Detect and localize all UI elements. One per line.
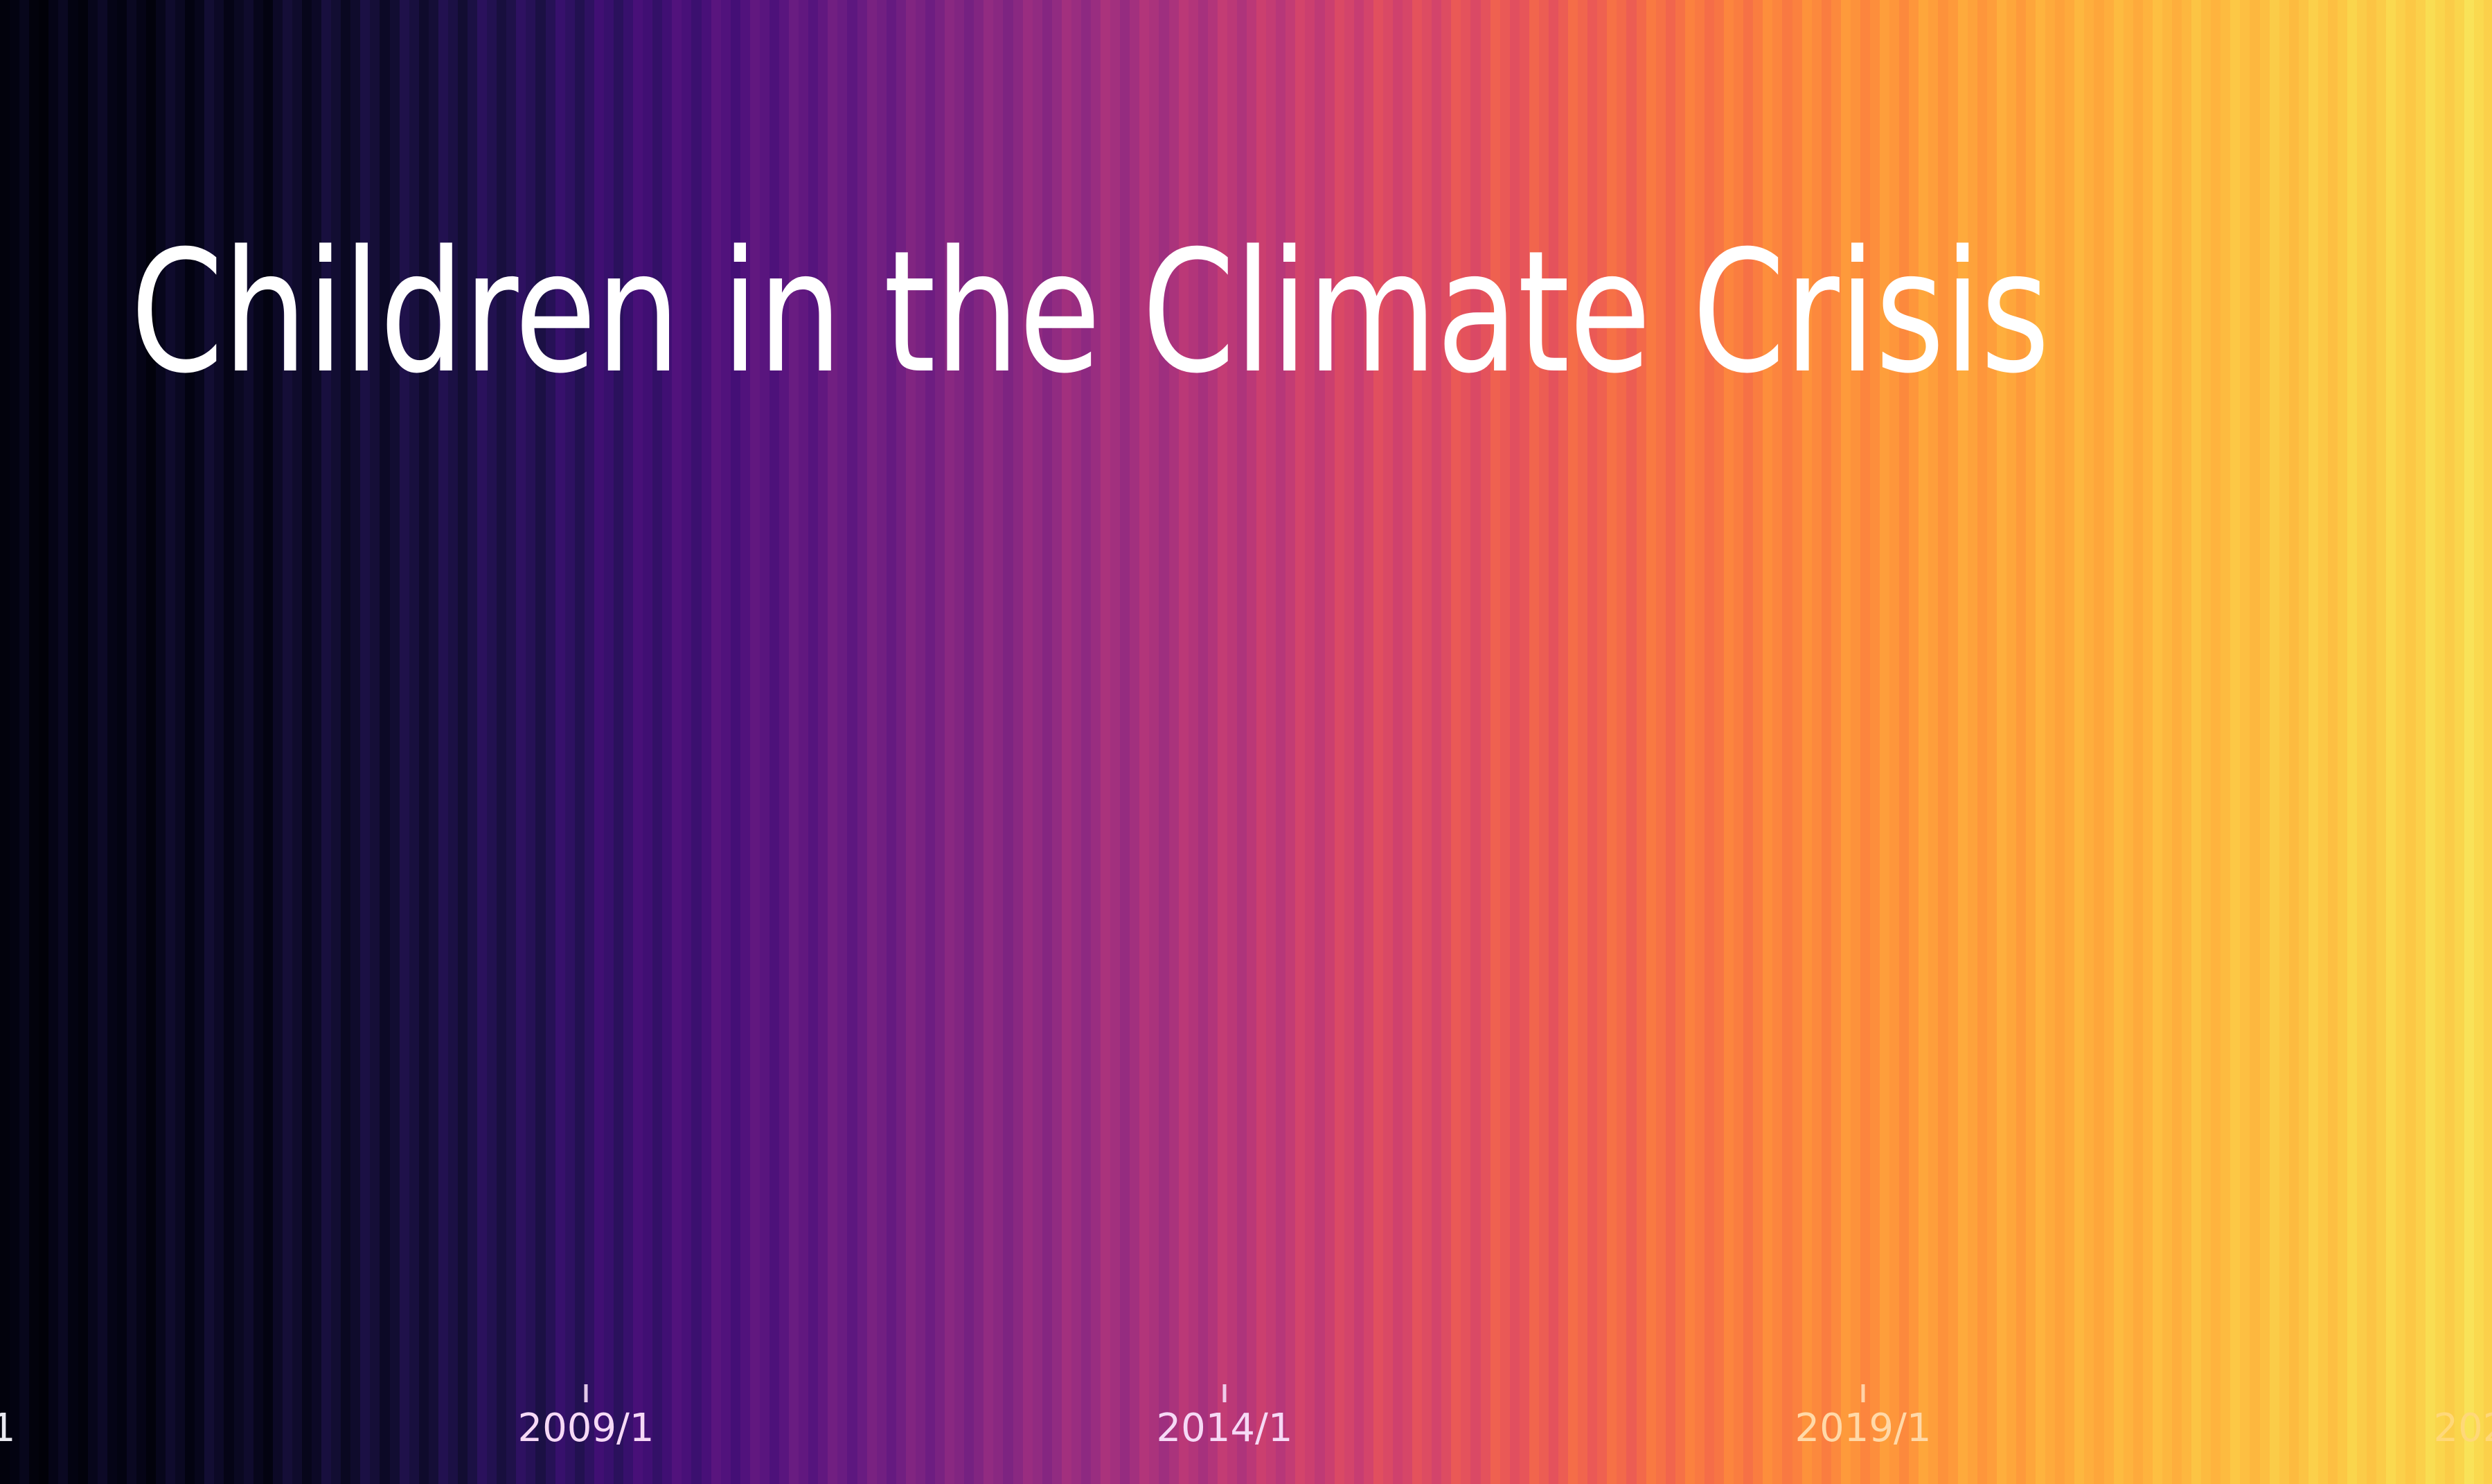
stripe: [2367, 0, 2376, 1484]
stripe: [0, 0, 10, 1484]
stripe: [2347, 0, 2357, 1484]
stripe: [2386, 0, 2396, 1484]
stripe: [2308, 0, 2318, 1484]
stripe: [2201, 0, 2211, 1484]
stripe: [39, 0, 48, 1484]
stripe: [2435, 0, 2445, 1484]
stripe: [2172, 0, 2182, 1484]
stripe: [2114, 0, 2124, 1484]
stripe: [2445, 0, 2455, 1484]
stripe: [29, 0, 39, 1484]
stripe: [2211, 0, 2220, 1484]
stripe: [2416, 0, 2426, 1484]
stripe: [117, 0, 127, 1484]
stripe: [68, 0, 78, 1484]
stripe: [2191, 0, 2201, 1484]
stripe: [10, 0, 19, 1484]
stripe: [88, 0, 98, 1484]
stripe: [2318, 0, 2328, 1484]
stripe: [19, 0, 29, 1484]
stripe: [48, 0, 58, 1484]
stripe: [2396, 0, 2405, 1484]
stripe: [2464, 0, 2474, 1484]
stripe: [2153, 0, 2162, 1484]
stripe: [2220, 0, 2230, 1484]
stripe: [2260, 0, 2270, 1484]
stripe: [2338, 0, 2347, 1484]
stripe: [107, 0, 117, 1484]
warming-stripes-figure: 2004/12009/12014/12019/12024/1 Children …: [0, 0, 2492, 1484]
stripe: [2104, 0, 2114, 1484]
stripe: [2143, 0, 2153, 1484]
stripe: [2084, 0, 2094, 1484]
stripe: [2279, 0, 2289, 1484]
stripe: [58, 0, 68, 1484]
stripe: [2133, 0, 2143, 1484]
page-title: Children in the Climate Crisis: [0, 229, 2193, 397]
stripe: [2065, 0, 2074, 1484]
stripe: [2426, 0, 2435, 1484]
stripe: [2328, 0, 2338, 1484]
stripe: [98, 0, 107, 1484]
stripe: [2270, 0, 2279, 1484]
stripe: [2094, 0, 2103, 1484]
stripe: [78, 0, 88, 1484]
stripe: [2376, 0, 2386, 1484]
stripe: [2162, 0, 2172, 1484]
stripe: [2074, 0, 2084, 1484]
stripe: [2299, 0, 2308, 1484]
stripe: [2357, 0, 2367, 1484]
stripe: [2484, 0, 2492, 1484]
stripe: [2289, 0, 2299, 1484]
stripe: [2124, 0, 2133, 1484]
stripe: [2055, 0, 2065, 1484]
stripe: [2250, 0, 2259, 1484]
stripe: [2230, 0, 2240, 1484]
stripe: [2474, 0, 2484, 1484]
stripe: [2455, 0, 2464, 1484]
stripe: [2405, 0, 2415, 1484]
stripe: [2240, 0, 2250, 1484]
stripe: [2182, 0, 2191, 1484]
